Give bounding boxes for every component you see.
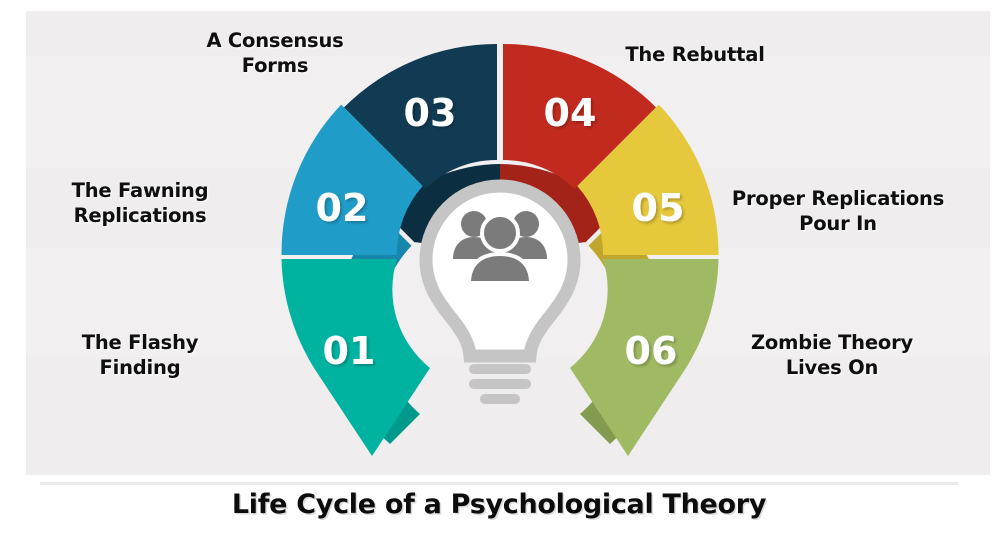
caption-divider	[40, 482, 958, 485]
lightbulb-base-ring-icon	[469, 379, 531, 389]
infographic-canvas: 03 02 01 04 05	[0, 0, 998, 542]
segment-01[interactable]: 01	[282, 259, 431, 456]
segment-06[interactable]: 06	[570, 259, 719, 456]
lightbulb-base-ring-icon	[480, 394, 520, 404]
lightbulb-people-icon	[426, 186, 574, 404]
lightbulb-base-ring-icon	[469, 364, 531, 374]
segment-04-label: The Rebuttal	[580, 42, 810, 67]
segment-02-label: The Fawning Replications	[40, 178, 240, 228]
segment-01-label: The Flashy Finding	[40, 330, 240, 380]
cycle-wheel: 03 02 01 04 05	[224, 16, 776, 468]
segment-02-number: 02	[316, 186, 369, 230]
segment-03-number: 03	[404, 91, 457, 135]
segment-06-number: 06	[625, 329, 678, 373]
segment-05-number: 05	[632, 186, 685, 230]
segment-01-number: 01	[323, 329, 376, 373]
segment-03-label: A Consensus Forms	[160, 28, 390, 78]
segment-04-number: 04	[544, 91, 597, 135]
segment-05-label: Proper Replications Pour In	[712, 186, 964, 236]
page-title: Life Cycle of a Psychological Theory	[0, 489, 998, 520]
segment-06-label: Zombie Theory Lives On	[712, 330, 952, 380]
